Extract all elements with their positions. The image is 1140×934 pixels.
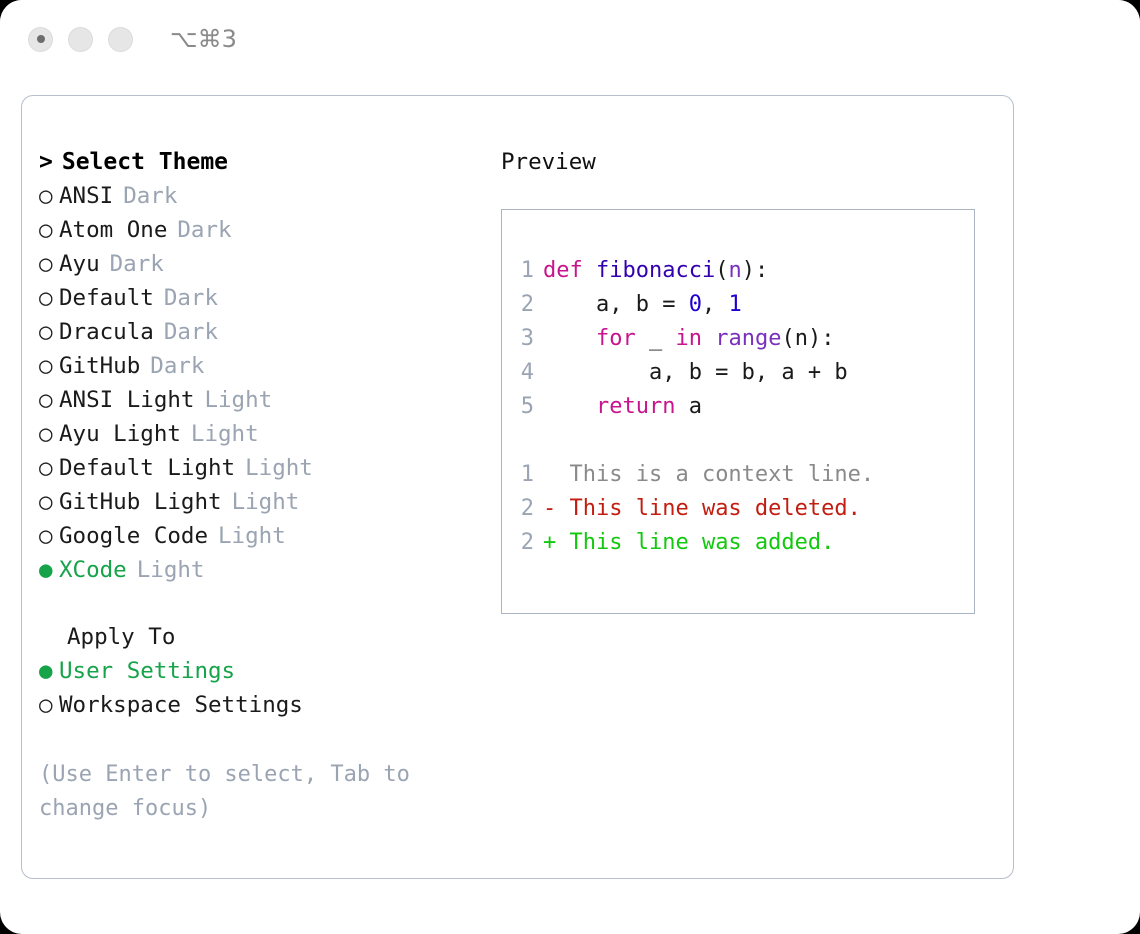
theme-variant-label: Light bbox=[232, 489, 300, 515]
code-token: a, b = b, a + b bbox=[543, 360, 848, 385]
preview-box: 1def fibonacci(n):2 a, b = 0, 13 for _ i… bbox=[501, 209, 975, 614]
radio-unselected-icon[interactable]: ○ bbox=[39, 213, 59, 247]
radio-unselected-icon[interactable]: ○ bbox=[39, 349, 59, 383]
radio-unselected-icon[interactable]: ○ bbox=[39, 281, 59, 315]
radio-unselected-icon[interactable]: ○ bbox=[39, 179, 59, 213]
theme-list-item[interactable]: ○DraculaDark bbox=[39, 315, 479, 349]
theme-name-label: Google Code bbox=[59, 523, 208, 549]
apply-to-option-label: User Settings bbox=[59, 658, 235, 684]
diff-sign: + bbox=[543, 530, 556, 555]
code-token: range bbox=[715, 326, 781, 351]
traffic-light-close[interactable] bbox=[28, 27, 53, 52]
theme-list-item[interactable]: ○Atom OneDark bbox=[39, 213, 479, 247]
traffic-light-maximize[interactable] bbox=[108, 27, 133, 52]
code-token: _ bbox=[636, 326, 676, 351]
code-line: 4 a, b = b, a + b bbox=[514, 356, 974, 390]
radio-unselected-icon[interactable]: ○ bbox=[39, 485, 59, 519]
theme-name-label: Atom One bbox=[59, 217, 167, 243]
code-line: 3 for _ in range(n): bbox=[514, 322, 974, 356]
code-token bbox=[543, 394, 596, 419]
radio-unselected-icon[interactable]: ○ bbox=[39, 519, 59, 553]
apply-to-header: Apply To bbox=[39, 620, 479, 654]
apply-to-option-label: Workspace Settings bbox=[59, 692, 303, 718]
select-theme-label: Select Theme bbox=[62, 149, 228, 175]
theme-name-label: Dracula bbox=[59, 319, 154, 345]
code-token bbox=[702, 326, 715, 351]
code-token: 0 bbox=[689, 292, 702, 317]
code-token: n bbox=[728, 258, 741, 283]
code-diff-separator bbox=[514, 424, 974, 458]
code-token: ): bbox=[742, 258, 769, 283]
hint-spacer bbox=[39, 722, 479, 758]
line-number: 3 bbox=[514, 322, 534, 356]
code-token bbox=[583, 258, 596, 283]
theme-list-item[interactable]: ○Google CodeLight bbox=[39, 519, 479, 553]
list-spacer bbox=[39, 587, 479, 620]
radio-unselected-icon[interactable]: ○ bbox=[39, 451, 59, 485]
diff-sample: 1 This is a context line.2- This line wa… bbox=[514, 458, 974, 560]
code-token: , bbox=[702, 292, 729, 317]
theme-variant-label: Dark bbox=[110, 251, 164, 277]
prompt-caret-icon: > bbox=[39, 149, 53, 175]
code-token: in bbox=[675, 326, 702, 351]
code-line: 2 a, b = 0, 1 bbox=[514, 288, 974, 322]
theme-name-label: ANSI Light bbox=[59, 387, 194, 413]
radio-unselected-icon[interactable]: ○ bbox=[39, 247, 59, 281]
theme-variant-label: Dark bbox=[150, 353, 204, 379]
apply-to-option[interactable]: ○Workspace Settings bbox=[39, 688, 479, 722]
theme-list-item[interactable]: ○DefaultDark bbox=[39, 281, 479, 315]
radio-unselected-icon[interactable]: ○ bbox=[39, 383, 59, 417]
diff-text: This line was added. bbox=[556, 530, 834, 555]
diff-line: 1 This is a context line. bbox=[514, 458, 974, 492]
theme-name-label: GitHub Light bbox=[59, 489, 222, 515]
theme-list-item[interactable]: ○GitHubDark bbox=[39, 349, 479, 383]
code-line: 1def fibonacci(n): bbox=[514, 254, 974, 288]
theme-list-item[interactable]: ○AyuDark bbox=[39, 247, 479, 281]
theme-variant-label: Dark bbox=[177, 217, 231, 243]
line-number: 2 bbox=[514, 492, 534, 526]
keyboard-shortcut-label: ⌥⌘3 bbox=[170, 25, 237, 53]
preview-title: Preview bbox=[501, 145, 991, 179]
theme-list: ○ANSIDark○Atom OneDark○AyuDark○DefaultDa… bbox=[39, 179, 479, 587]
theme-variant-label: Dark bbox=[164, 285, 218, 311]
select-theme-header: >Select Theme bbox=[39, 145, 479, 179]
diff-sign: - bbox=[543, 496, 556, 521]
code-token bbox=[543, 326, 596, 351]
code-line: 5 return a bbox=[514, 390, 974, 424]
theme-variant-label: Dark bbox=[123, 183, 177, 209]
theme-name-label: Ayu bbox=[59, 251, 100, 277]
theme-list-item[interactable]: ○Default LightLight bbox=[39, 451, 479, 485]
code-token: fibonacci bbox=[596, 258, 715, 283]
radio-selected-icon[interactable]: ● bbox=[39, 553, 59, 587]
preview-panel: Preview 1def fibonacci(n):2 a, b = 0, 13… bbox=[501, 145, 991, 614]
radio-unselected-icon[interactable]: ○ bbox=[39, 417, 59, 451]
code-token: ( bbox=[715, 258, 728, 283]
theme-list-item[interactable]: ○ANSIDark bbox=[39, 179, 479, 213]
theme-variant-label: Light bbox=[137, 557, 205, 583]
theme-variant-label: Light bbox=[191, 421, 259, 447]
apply-to-list: ●User Settings○Workspace Settings bbox=[39, 654, 479, 722]
theme-name-label: GitHub bbox=[59, 353, 140, 379]
traffic-light-minimize[interactable] bbox=[68, 27, 93, 52]
theme-name-label: Ayu Light bbox=[59, 421, 181, 447]
theme-variant-label: Light bbox=[245, 455, 313, 481]
code-token: 1 bbox=[728, 292, 741, 317]
title-bar: ⌥⌘3 bbox=[0, 0, 1140, 78]
theme-selection-panel: >Select Theme ○ANSIDark○Atom OneDark○Ayu… bbox=[39, 145, 479, 826]
diff-text: This line was deleted. bbox=[556, 496, 861, 521]
diff-sign bbox=[543, 462, 556, 487]
theme-variant-label: Light bbox=[204, 387, 272, 413]
code-token: (n): bbox=[781, 326, 834, 351]
code-token: a bbox=[675, 394, 702, 419]
code-token: return bbox=[596, 394, 675, 419]
theme-picker-dialog: >Select Theme ○ANSIDark○Atom OneDark○Ayu… bbox=[21, 95, 1014, 879]
app-window: ⌥⌘3 >Select Theme ○ANSIDark○Atom OneDark… bbox=[0, 0, 1140, 934]
theme-list-item[interactable]: ○GitHub LightLight bbox=[39, 485, 479, 519]
theme-name-label: Default bbox=[59, 285, 154, 311]
line-number: 4 bbox=[514, 356, 534, 390]
diff-line: 2+ This line was added. bbox=[514, 526, 974, 560]
line-number: 2 bbox=[514, 526, 534, 560]
keyboard-hint-text: (Use Enter to select, Tab to change focu… bbox=[39, 758, 439, 826]
code-sample: 1def fibonacci(n):2 a, b = 0, 13 for _ i… bbox=[514, 254, 974, 424]
theme-variant-label: Light bbox=[218, 523, 286, 549]
code-token: def bbox=[543, 258, 583, 283]
theme-list-item[interactable]: ○Ayu LightLight bbox=[39, 417, 479, 451]
theme-variant-label: Dark bbox=[164, 319, 218, 345]
theme-name-label: ANSI bbox=[59, 183, 113, 209]
diff-line: 2- This line was deleted. bbox=[514, 492, 974, 526]
line-number: 2 bbox=[514, 288, 534, 322]
theme-name-label: Default Light bbox=[59, 455, 235, 481]
line-number: 1 bbox=[514, 458, 534, 492]
line-number: 1 bbox=[514, 254, 534, 288]
code-token: for bbox=[596, 326, 636, 351]
traffic-light-dot-inner bbox=[37, 35, 45, 43]
theme-list-item[interactable]: ●XCodeLight bbox=[39, 553, 479, 587]
theme-list-item[interactable]: ○ANSI LightLight bbox=[39, 383, 479, 417]
code-token: a, b = bbox=[543, 292, 689, 317]
radio-unselected-icon[interactable]: ○ bbox=[39, 315, 59, 349]
diff-text: This is a context line. bbox=[556, 462, 874, 487]
line-number: 5 bbox=[514, 390, 534, 424]
apply-to-option[interactable]: ●User Settings bbox=[39, 654, 479, 688]
radio-unselected-icon[interactable]: ○ bbox=[39, 688, 59, 722]
radio-selected-icon[interactable]: ● bbox=[39, 654, 59, 688]
theme-name-label: XCode bbox=[59, 557, 127, 583]
